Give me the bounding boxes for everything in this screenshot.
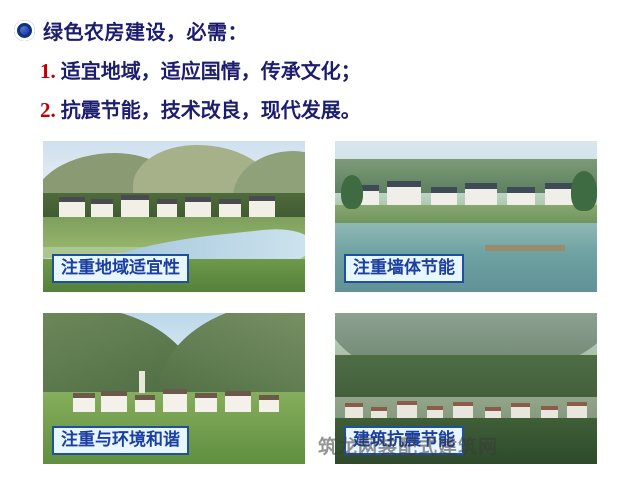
photo-card: 注重墙体节能 — [332, 138, 600, 295]
photo-card: 注重地域适宜性 — [40, 138, 308, 295]
photo-caption: 注重地域适宜性 — [52, 254, 189, 283]
photo-caption: 注重墙体节能 — [344, 254, 464, 283]
list-item-label: 抗震节能，技术改良，现代发展。 — [61, 94, 361, 123]
page-title-text: 绿色农房建设，必需： — [43, 16, 248, 45]
photo-caption: 注重与环境和谐 — [52, 426, 189, 455]
watermark: 筑龙网装配式建筑网 — [318, 432, 498, 459]
list-item-number: 1. — [40, 59, 56, 84]
list-item: 1. 适宜地域，适应国情，传承文化； — [40, 55, 361, 84]
page-title: 绿色农房建设，必需： — [14, 16, 248, 45]
photo-card: 注重与环境和谐 — [40, 310, 308, 467]
photo-grid: 注重地域适宜性 注重墙体节能 — [40, 138, 602, 468]
bullet-ring-icon — [14, 20, 35, 41]
list-item-number: 2. — [40, 98, 56, 123]
slide: 绿色农房建设，必需： 1. 适宜地域，适应国情，传承文化； 2. 抗震节能，技术… — [0, 0, 640, 480]
list-item-label: 适宜地域，适应国情，传承文化； — [61, 55, 361, 84]
list-item: 2. 抗震节能，技术改良，现代发展。 — [40, 94, 361, 123]
